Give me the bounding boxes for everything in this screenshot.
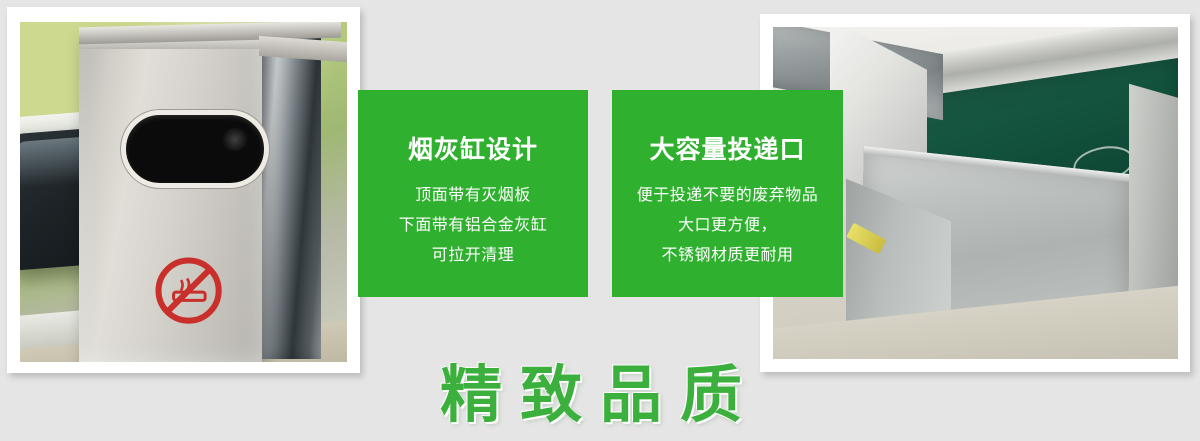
feature-card-ashtray-design: 烟灰缸设计 顶面带有灭烟板 下面带有铝合金灰缸 可拉开清理 bbox=[358, 90, 588, 297]
feature-card-title: 烟灰缸设计 bbox=[358, 90, 588, 163]
bin-side-panel bbox=[262, 36, 321, 359]
feature-card-line: 可拉开清理 bbox=[358, 241, 588, 271]
feature-card-lines: 便于投递不要的废弃物品 大口更方便， 不锈钢材质更耐用 bbox=[612, 181, 843, 271]
feature-card-line: 不锈钢材质更耐用 bbox=[612, 241, 843, 271]
banner-stage: 烟灰缸设计 顶面带有灭烟板 下面带有铝合金灰缸 可拉开清理 大容量投递口 便于投… bbox=[0, 0, 1200, 441]
photo-stainless-steel-bin-with-ashtray-opening bbox=[20, 22, 347, 362]
feature-card-line: 便于投递不要的废弃物品 bbox=[612, 181, 843, 211]
no-smoking-icon bbox=[151, 253, 226, 328]
feature-card-lines: 顶面带有灭烟板 下面带有铝合金灰缸 可拉开清理 bbox=[358, 181, 588, 271]
feature-card-line: 大口更方便， bbox=[612, 211, 843, 241]
bin-oval-opening bbox=[121, 110, 268, 188]
feature-card-large-opening: 大容量投递口 便于投递不要的废弃物品 大口更方便， 不锈钢材质更耐用 bbox=[612, 90, 843, 297]
left-photo-frame bbox=[7, 7, 360, 373]
feature-card-line: 顶面带有灭烟板 bbox=[358, 181, 588, 211]
feature-card-title: 大容量投递口 bbox=[612, 90, 843, 163]
feature-card-line: 下面带有铝合金灰缸 bbox=[358, 211, 588, 241]
banner-headline: 精致品质 bbox=[0, 358, 1200, 434]
